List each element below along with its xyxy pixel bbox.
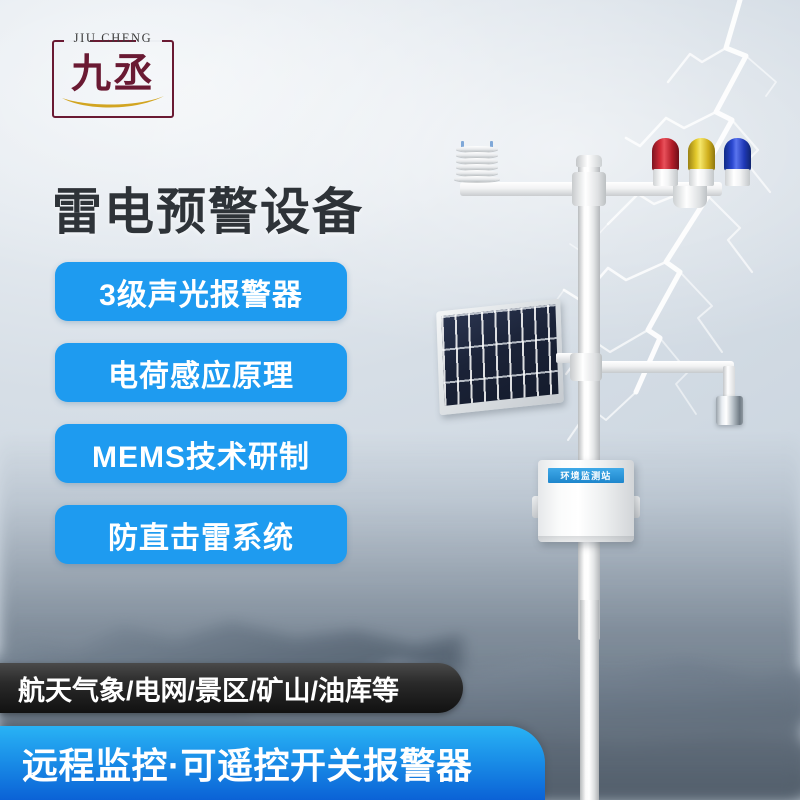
page-title: 雷电预警设备 bbox=[52, 172, 364, 244]
applications-bar-label: 航天气象/电网/景区/矿山/油库等 bbox=[18, 669, 399, 708]
feature-pill-3: MEMS技术研制 bbox=[55, 424, 347, 483]
swoosh-icon bbox=[60, 94, 166, 112]
applications-bar: 航天气象/电网/景区/矿山/油库等 bbox=[0, 663, 463, 713]
logo-swoosh-accent bbox=[60, 94, 166, 112]
feature-pill-list: 3级声光报警器 电荷感应原理 MEMS技术研制 防直击雷系统 bbox=[55, 262, 347, 564]
capability-bar: 远程监控·可遥控开关报警器 bbox=[0, 726, 545, 800]
logo-chinese-name: 九丞 bbox=[52, 54, 174, 94]
brand-logo: JIU CHENG 九丞 bbox=[52, 40, 174, 118]
feature-pill-1: 3级声光报警器 bbox=[55, 262, 347, 321]
product-poster: 环境监测站 JIU CHENG 九丞 雷电预警设备 3级声光报警器 电荷感应原理… bbox=[0, 0, 800, 800]
capability-bar-label: 远程监控·可遥控开关报警器 bbox=[22, 737, 473, 789]
feature-pill-2: 电荷感应原理 bbox=[55, 343, 347, 402]
feature-pill-4: 防直击雷系统 bbox=[55, 505, 347, 564]
logo-english-name: JIU CHENG bbox=[52, 31, 174, 46]
